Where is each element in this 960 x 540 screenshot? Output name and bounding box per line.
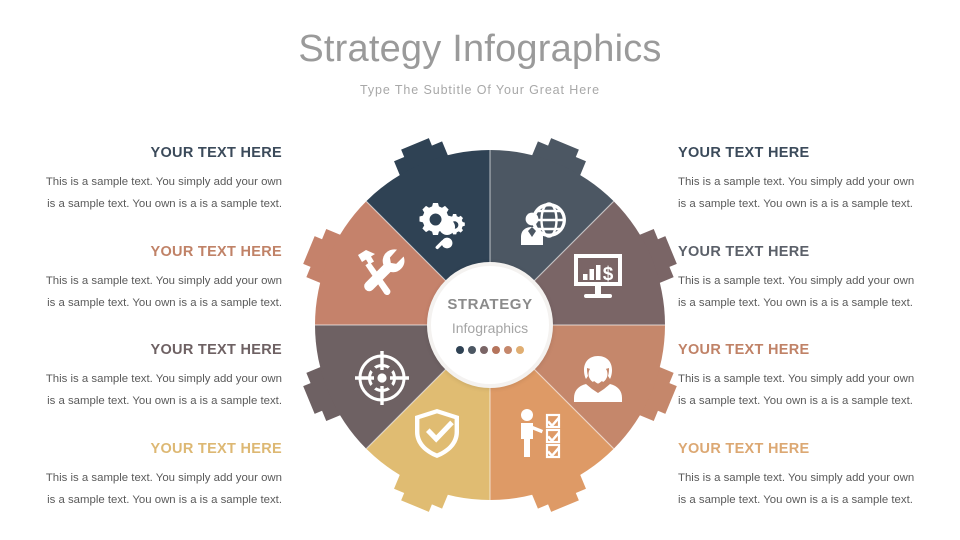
text-block-left-4: YOUR TEXT HERE This is a sample text. Yo… — [20, 442, 282, 511]
text-block-left-3-body: This is a sample text. You simply add yo… — [20, 368, 282, 412]
body-line-2: is a sample text. You own is a is a samp… — [678, 297, 913, 309]
text-block-left-4-body: This is a sample text. You simply add yo… — [20, 467, 282, 511]
body-line-1: This is a sample text. You simply add yo… — [678, 373, 914, 385]
text-block-left-3-heading: YOUR TEXT HERE — [20, 343, 282, 359]
body-line-1: This is a sample text. You simply add yo… — [46, 373, 282, 385]
hub-dot-4 — [492, 346, 500, 354]
body-line-1: This is a sample text. You simply add yo… — [678, 176, 914, 188]
text-block-left-2: YOUR TEXT HERE This is a sample text. Yo… — [20, 245, 282, 314]
body-line-2: is a sample text. You own is a is a samp… — [678, 395, 913, 407]
hub-dot-2 — [468, 346, 476, 354]
body-line-2: is a sample text. You own is a is a samp… — [47, 198, 282, 210]
text-block-right-1-body: This is a sample text. You simply add yo… — [678, 171, 940, 215]
page-subtitle: Type The Subtitle Of Your Great Here — [0, 83, 960, 97]
hub-dot-6 — [516, 346, 524, 354]
text-block-left-2-heading: YOUR TEXT HERE — [20, 245, 282, 261]
center-hub: STRATEGY Infographics — [427, 262, 553, 388]
text-block-right-3: YOUR TEXT HERE This is a sample text. Yo… — [678, 343, 940, 412]
text-block-right-3-body: This is a sample text. You simply add yo… — [678, 368, 940, 412]
body-line-2: is a sample text. You own is a is a samp… — [47, 494, 282, 506]
text-block-right-2: YOUR TEXT HERE This is a sample text. Yo… — [678, 245, 940, 314]
text-block-right-4: YOUR TEXT HERE This is a sample text. Yo… — [678, 442, 940, 511]
body-line-2: is a sample text. You own is a is a samp… — [47, 297, 282, 309]
body-line-1: This is a sample text. You simply add yo… — [46, 176, 282, 188]
text-block-left-3: YOUR TEXT HERE This is a sample text. Yo… — [20, 343, 282, 412]
body-line-1: This is a sample text. You simply add yo… — [46, 275, 282, 287]
text-block-right-4-heading: YOUR TEXT HERE — [678, 442, 940, 458]
text-block-right-4-body: This is a sample text. You simply add yo… — [678, 467, 940, 511]
body-line-2: is a sample text. You own is a is a samp… — [678, 494, 913, 506]
text-block-right-2-heading: YOUR TEXT HERE — [678, 245, 940, 261]
hub-dots — [456, 346, 524, 354]
text-block-right-2-body: This is a sample text. You simply add yo… — [678, 270, 940, 314]
text-block-right-3-heading: YOUR TEXT HERE — [678, 343, 940, 359]
text-block-left-1-body: This is a sample text. You simply add yo… — [20, 171, 282, 215]
text-block-left-4-heading: YOUR TEXT HERE — [20, 442, 282, 458]
hub-title: STRATEGY — [447, 297, 532, 312]
gear-wheel-diagram: $ — [300, 130, 680, 520]
body-line-1: This is a sample text. You simply add yo… — [678, 472, 914, 484]
hub-dot-5 — [504, 346, 512, 354]
body-line-2: is a sample text. You own is a is a samp… — [47, 395, 282, 407]
infographic-slide: Strategy Infographics Type The Subtitle … — [0, 0, 960, 540]
page-title: Strategy Infographics — [0, 28, 960, 71]
body-line-1: This is a sample text. You simply add yo… — [678, 275, 914, 287]
hub-dot-3 — [480, 346, 488, 354]
text-block-left-2-body: This is a sample text. You simply add yo… — [20, 270, 282, 314]
text-block-right-1-heading: YOUR TEXT HERE — [678, 146, 940, 162]
body-line-2: is a sample text. You own is a is a samp… — [678, 198, 913, 210]
text-block-left-1-heading: YOUR TEXT HERE — [20, 146, 282, 162]
hub-subtitle: Infographics — [452, 321, 528, 335]
text-block-left-1: YOUR TEXT HERE This is a sample text. Yo… — [20, 146, 282, 215]
hub-dot-1 — [456, 346, 464, 354]
svg-text:$: $ — [603, 264, 614, 285]
body-line-1: This is a sample text. You simply add yo… — [46, 472, 282, 484]
text-block-right-1: YOUR TEXT HERE This is a sample text. Yo… — [678, 146, 940, 215]
